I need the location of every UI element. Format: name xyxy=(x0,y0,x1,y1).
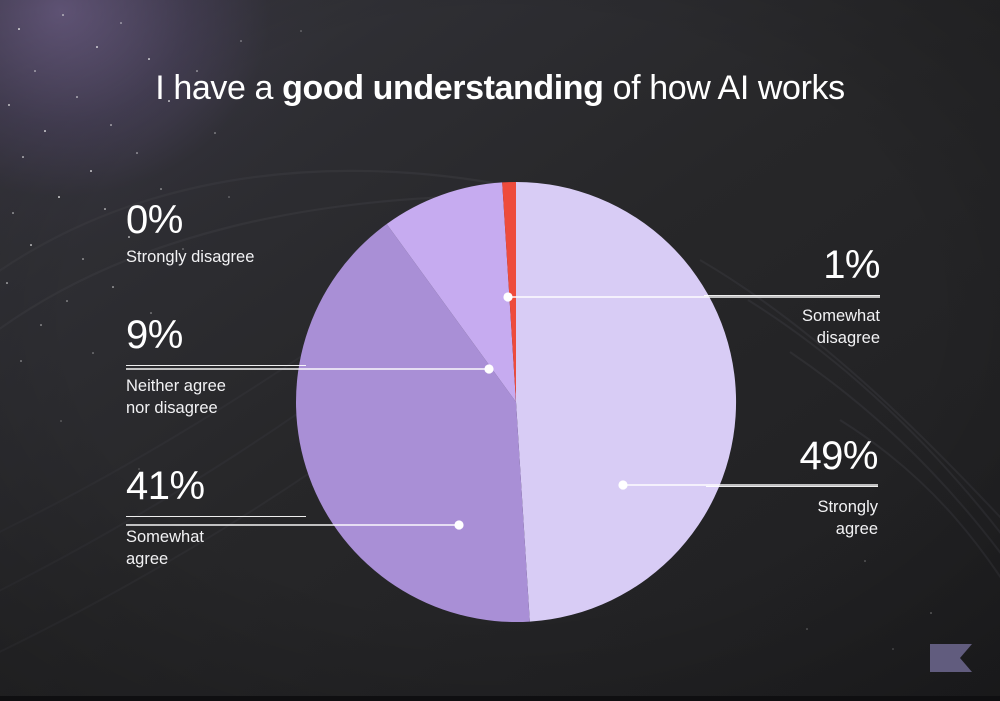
label-somewhat-agree-value: 41% xyxy=(126,466,306,506)
label-rule xyxy=(704,295,880,296)
label-somewhat-disagree: 1% Somewhat disagree xyxy=(704,245,880,350)
label-strongly-agree: 49% Strongly agree xyxy=(706,436,878,541)
label-neither-name: Neither agree nor disagree xyxy=(126,375,306,420)
label-strongly-disagree: 0% Strongly disagree xyxy=(126,200,316,268)
label-rule xyxy=(126,516,306,517)
label-strongly-disagree-value: 0% xyxy=(126,200,316,240)
label-strongly-agree-value: 49% xyxy=(706,436,878,476)
label-neither-value: 9% xyxy=(126,315,306,355)
label-strongly-agree-name: Strongly agree xyxy=(706,496,878,541)
label-rule xyxy=(706,486,878,487)
label-strongly-disagree-name: Strongly disagree xyxy=(126,246,316,268)
flag-logo-mark xyxy=(930,644,972,672)
label-rule xyxy=(126,365,306,366)
label-somewhat-agree: 41% Somewhat agree xyxy=(126,466,306,571)
label-somewhat-agree-name: Somewhat agree xyxy=(126,526,306,571)
label-neither: 9% Neither agree nor disagree xyxy=(126,315,306,420)
pie-slice-group xyxy=(296,182,736,622)
label-somewhat-disagree-name: Somewhat disagree xyxy=(704,305,880,350)
label-somewhat-disagree-value: 1% xyxy=(704,245,880,285)
